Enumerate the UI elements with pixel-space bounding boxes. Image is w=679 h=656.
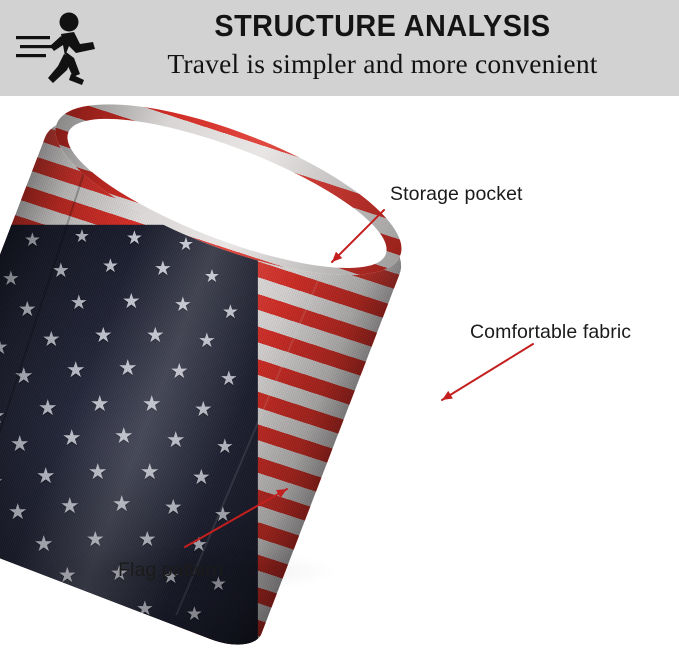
flag-star: ★ [24, 231, 41, 250]
flag-star: ★ [0, 405, 6, 427]
flag-star: ★ [2, 269, 20, 289]
flag-star: ★ [118, 357, 138, 379]
flag-star: ★ [154, 259, 172, 279]
product-image-area: ★★★★★★★★★★★★★★★★★★★★★★★★★★★★★★★★★★★★★★★★… [0, 96, 679, 596]
page-title: STRUCTURE ANALYSIS [115, 6, 650, 46]
flag-star: ★ [70, 293, 88, 313]
flag-star: ★ [222, 303, 239, 322]
flag-star: ★ [146, 325, 165, 346]
flag-star: ★ [52, 261, 70, 281]
flag-star: ★ [18, 299, 37, 320]
callout-label-comfortable-fabric: Comfortable fabric [470, 321, 631, 344]
flag-star: ★ [6, 571, 25, 592]
page-subtitle: Travel is simpler and more convenient [95, 46, 670, 82]
flag-star: ★ [74, 227, 90, 245]
flag-star: ★ [38, 397, 58, 419]
flag-star: ★ [164, 497, 183, 518]
flag-star: ★ [90, 393, 110, 415]
flag-star: ★ [10, 433, 30, 455]
flag-star: ★ [88, 461, 108, 483]
flag-star: ★ [126, 229, 143, 248]
flag-star: ★ [174, 295, 192, 315]
flag-star: ★ [166, 429, 186, 451]
flag-star: ★ [114, 425, 134, 447]
flag-star: ★ [42, 329, 61, 350]
flag-star: ★ [86, 529, 105, 550]
flag-star: ★ [14, 365, 34, 387]
flag-star: ★ [102, 257, 119, 276]
flag-star: ★ [66, 359, 86, 381]
flag-star: ★ [62, 427, 82, 449]
flag-star: ★ [0, 471, 4, 493]
flag-star: ★ [216, 437, 234, 457]
header-text-block: STRUCTURE ANALYSIS Travel is simpler and… [95, 6, 670, 82]
flag-star: ★ [32, 603, 50, 623]
callout-label-storage-pocket: Storage pocket [390, 183, 523, 206]
flag-star: ★ [142, 393, 162, 415]
flag-star: ★ [0, 539, 1, 560]
flag-star: ★ [220, 369, 238, 389]
flag-star: ★ [112, 493, 132, 515]
flag-star: ★ [136, 599, 154, 619]
flag-star: ★ [204, 267, 220, 285]
flag-star: ★ [122, 291, 141, 312]
flag-star: ★ [198, 331, 216, 351]
flag-star: ★ [192, 467, 211, 488]
flag-star: ★ [186, 605, 203, 624]
flag-star: ★ [94, 325, 113, 346]
flag-star: ★ [8, 501, 28, 523]
flag-star: ★ [60, 495, 80, 517]
flag-star: ★ [36, 465, 56, 487]
flag-star: ★ [0, 337, 9, 358]
flag-star: ★ [84, 599, 102, 619]
flag-star: ★ [170, 361, 189, 382]
flag-star: ★ [140, 461, 160, 483]
flag-star: ★ [194, 399, 213, 420]
flag-star: ★ [214, 505, 232, 525]
flag-star: ★ [138, 529, 157, 550]
callout-label-flag-pattern: Flag pattern [118, 559, 223, 582]
